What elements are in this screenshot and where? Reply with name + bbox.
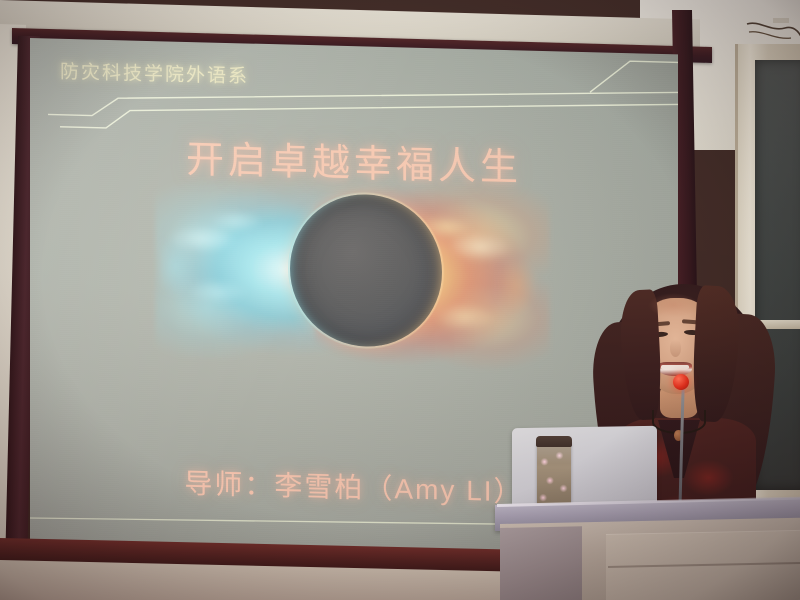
slide-header-text: 防灾科技学院外语系 <box>60 57 249 89</box>
tumbler-lid <box>536 436 572 447</box>
presenter-hair-highlight <box>642 290 712 324</box>
lecture-hall-photo: 防灾科技学院外语系 开启卓越幸福人生 导师：李雪柏（Amy LI） <box>0 0 800 600</box>
eclipse-artwork <box>170 182 530 361</box>
microphone-icon <box>673 374 689 390</box>
presenter-teeth <box>661 365 689 370</box>
podium-panel-left <box>500 526 582 600</box>
ceiling-cables-icon <box>745 18 800 62</box>
presenter-nose <box>670 340 681 357</box>
